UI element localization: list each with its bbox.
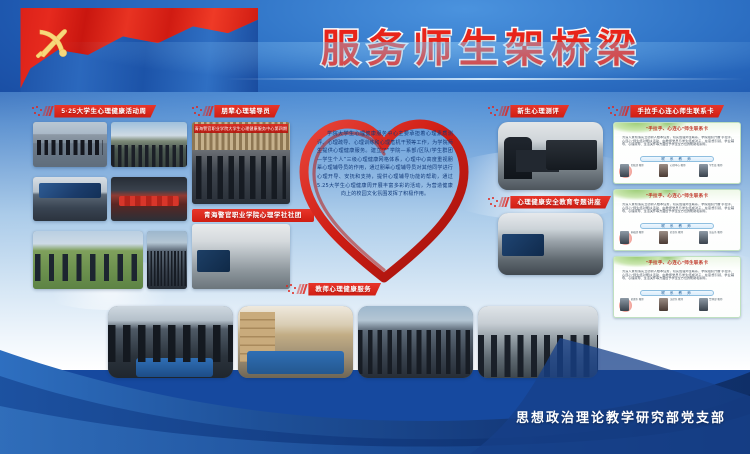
photo-stage-event bbox=[111, 177, 187, 221]
section-label: 新生心理测评 bbox=[510, 105, 569, 118]
avatar bbox=[699, 164, 708, 177]
slash-bars-icon bbox=[296, 284, 308, 294]
dot-cluster-icon bbox=[608, 106, 619, 117]
avatar bbox=[699, 231, 708, 244]
hammer-sickle-icon bbox=[32, 22, 74, 64]
flag-red-field bbox=[8, 8, 258, 92]
section-header-peer-counselor: 朋辈心理辅导员 bbox=[192, 104, 280, 118]
title-divider bbox=[226, 78, 744, 80]
party-flag bbox=[8, 8, 258, 92]
dot-cluster-icon bbox=[192, 106, 203, 117]
bulletin-board: 服务师生架桥梁 5·25大学生心理健康活动周 朋辈心理辅导员 青海警官职业学院大… bbox=[0, 0, 750, 454]
photo-peer-counselor-group: 青海警官职业学院大学生心理健康服务中心第四期朋辈心理辅导员培训班 bbox=[192, 122, 290, 204]
contact-card[interactable]: “手拉手、心连心”师生联系卡 为深入贯彻落实立德树人根本任务，切实加强师生联系，… bbox=[613, 256, 741, 318]
section-header-safety-lecture: 心理健康安全教育专题讲座 bbox=[488, 195, 611, 209]
slash-bars-icon bbox=[42, 106, 54, 116]
dot-cluster-icon bbox=[488, 106, 499, 117]
footer-wave-decoration bbox=[0, 314, 750, 454]
section-header-activity-week: 5·25大学生心理健康活动周 bbox=[32, 104, 156, 118]
avatar bbox=[620, 164, 629, 177]
person-name: 学生处 教师 bbox=[709, 164, 736, 183]
person-entry: 心理中心 教师 bbox=[659, 164, 696, 183]
photo-yard-assembly bbox=[111, 122, 187, 167]
card-body: 为深入贯彻落实立德树人根本任务，切实加强师生联系，学院组织开展“手拉手、心连心”… bbox=[622, 203, 734, 222]
card-band-label: 联 系 教 师 bbox=[640, 223, 714, 229]
card-body: 为深入贯彻落实立德树人根本任务，切实加强师生联系，学院组织开展“手拉手、心连心”… bbox=[622, 136, 734, 155]
person-name: 思政部 教师 bbox=[631, 164, 658, 183]
page-title: 服务师生架桥梁 bbox=[292, 18, 672, 70]
section-label: 心理健康安全教育专题讲座 bbox=[510, 196, 611, 209]
dot-cluster-icon bbox=[286, 284, 297, 295]
heart-paragraph: 学院大学生心理健康服务中心主要承担着心理素质测评、心理疏导、心理训练和心理危机干… bbox=[317, 130, 453, 199]
avatar bbox=[659, 231, 668, 244]
slash-bars-icon bbox=[202, 106, 214, 116]
card-band-label: 联 系 教 师 bbox=[640, 156, 714, 162]
person-entry: 基础部 教师 bbox=[620, 231, 657, 250]
contact-card[interactable]: “手拉手、心连心”师生联系卡 为深入贯彻落实立德树人根本任务，切实加强师生联系，… bbox=[613, 122, 741, 184]
heart-body-text: 学院大学生心理健康服务中心主要承担着心理素质测评、心理疏导、心理训练和心理危机干… bbox=[317, 130, 453, 266]
photo-field-activity bbox=[33, 231, 143, 289]
person-name: 治安系 教师 bbox=[709, 231, 736, 250]
section-header-freshman-assessment: 新生心理测评 bbox=[488, 104, 569, 118]
photo-computer-assessment bbox=[498, 122, 603, 190]
avatar bbox=[620, 298, 629, 311]
person-entry: 侦查系 教师 bbox=[659, 231, 696, 250]
photo-hall-screen bbox=[33, 177, 107, 221]
card-title: “手拉手、心连心”师生联系卡 bbox=[614, 260, 740, 266]
section-label: 手拉手心连心师生联系卡 bbox=[630, 105, 724, 118]
person-entry: 思政部 教师 bbox=[620, 164, 657, 183]
photo-parade bbox=[33, 122, 107, 167]
card-people-row: 思政部 教师 心理中心 教师 学生处 教师 bbox=[620, 164, 736, 183]
section-label: 5·25大学生心理健康活动周 bbox=[54, 105, 156, 118]
card-title: “手拉手、心连心”师生联系卡 bbox=[614, 126, 740, 132]
heart-infographic: 学院大学生心理健康服务中心主要承担着心理素质测评、心理疏导、心理训练和心理危机干… bbox=[296, 100, 472, 286]
avatar bbox=[699, 298, 708, 311]
person-entry: 治安系 教师 bbox=[699, 231, 736, 250]
dot-cluster-icon bbox=[488, 197, 499, 208]
contact-card[interactable]: “手拉手、心连心”师生联系卡 为深入贯彻落实立德树人根本任务，切实加强师生联系，… bbox=[613, 189, 741, 251]
photo-field-crowd bbox=[147, 231, 187, 289]
slash-bars-icon bbox=[618, 106, 630, 116]
avatar bbox=[659, 298, 668, 311]
section-header-contact-card: 手拉手心连心师生联系卡 bbox=[608, 104, 724, 118]
person-name: 心理中心 教师 bbox=[670, 164, 697, 183]
avatar bbox=[659, 164, 668, 177]
section-header-teacher-service: 教师心理健康服务 bbox=[286, 282, 381, 296]
card-body: 为深入贯彻落实立德树人根本任务，切实加强师生联系，学院组织开展“手拉手、心连心”… bbox=[622, 270, 734, 289]
person-name: 侦查系 教师 bbox=[670, 231, 697, 250]
dot-cluster-icon bbox=[32, 106, 43, 117]
person-entry: 学生处 教师 bbox=[699, 164, 736, 183]
card-title: “手拉手、心连心”师生联系卡 bbox=[614, 193, 740, 199]
card-people-row: 基础部 教师 侦查系 教师 治安系 教师 bbox=[620, 231, 736, 250]
photo-caption: 青海警官职业学院大学生心理健康服务中心第四期朋辈心理辅导员培训班 bbox=[194, 124, 288, 133]
slash-bars-icon bbox=[498, 106, 510, 116]
card-band-label: 联 系 教 师 bbox=[640, 290, 714, 296]
person-name: 基础部 教师 bbox=[631, 231, 658, 250]
avatar bbox=[620, 231, 629, 244]
slash-bars-icon bbox=[498, 197, 510, 207]
section-label: 朋辈心理辅导员 bbox=[214, 105, 280, 118]
footer-organization: 思想政治理论教学研究部党支部 bbox=[516, 407, 726, 426]
photo-psych-club bbox=[192, 224, 290, 289]
section-label: 教师心理健康服务 bbox=[308, 283, 381, 296]
photo-lecture-hall bbox=[498, 213, 603, 275]
header-banner: 服务师生架桥梁 bbox=[0, 0, 750, 92]
